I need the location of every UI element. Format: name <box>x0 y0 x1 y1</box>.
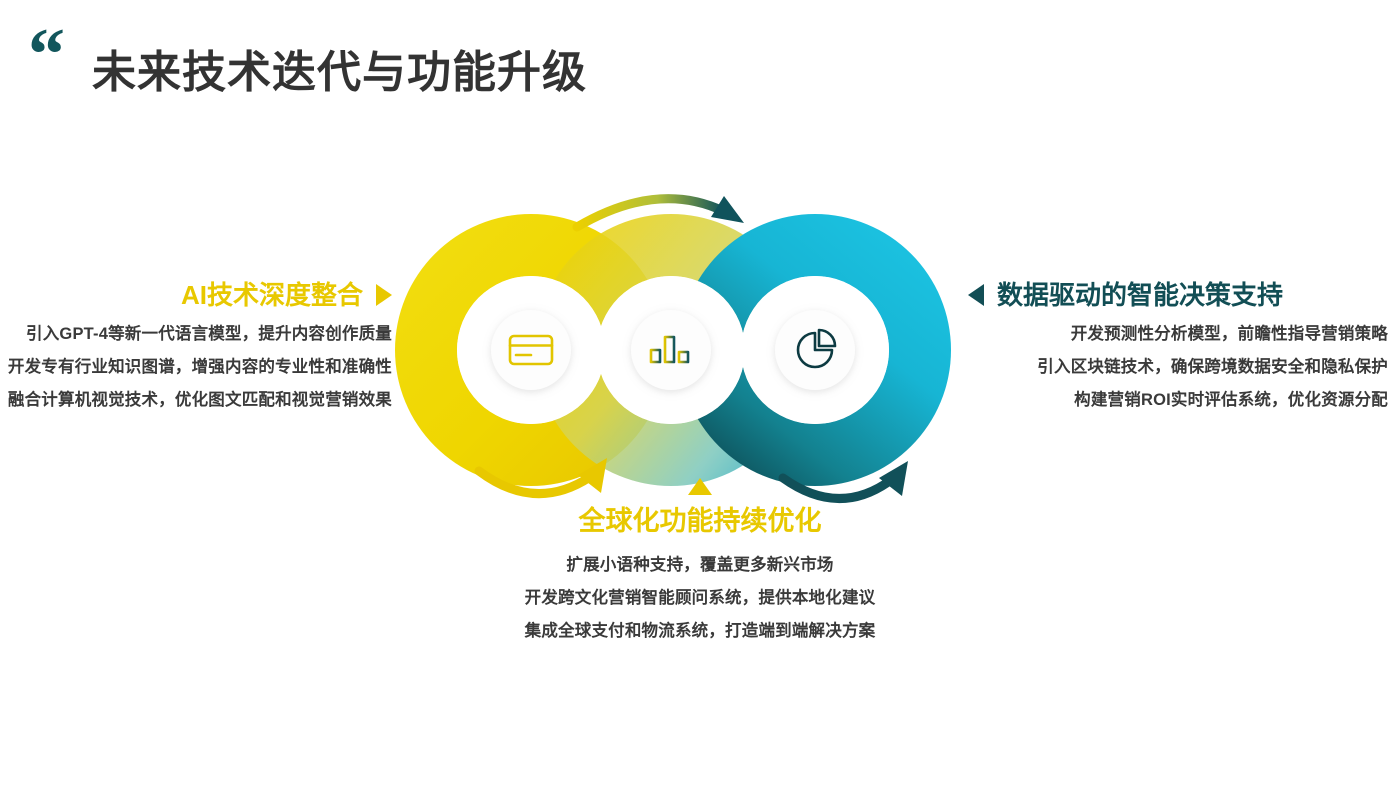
section-bottom: 全球化功能持续优化 扩展小语种支持，覆盖更多新兴市场 开发跨文化营销智能顾问系统… <box>400 478 1000 648</box>
section-right-line-3: 构建营销ROI实时评估系统，优化资源分配 <box>968 384 1388 417</box>
section-left-line-2: 开发专有行业知识图谱，增强内容的专业性和准确性 <box>0 351 392 384</box>
node-2-badge[interactable] <box>631 310 711 390</box>
section-right-heading-row: 数据驱动的智能决策支持 <box>968 282 1388 308</box>
section-bottom-heading: 全球化功能持续优化 <box>400 508 1000 535</box>
section-bottom-line-2: 开发跨文化营销智能顾问系统，提供本地化建议 <box>400 582 1000 615</box>
page-title: 未来技术迭代与功能升级 <box>92 36 587 100</box>
section-bottom-line-1: 扩展小语种支持，覆盖更多新兴市场 <box>400 549 1000 582</box>
infographic-diagram <box>395 175 1005 525</box>
section-left: AI技术深度整合 引入GPT-4等新一代语言模型，提升内容创作质量 开发专有行业… <box>0 282 400 417</box>
page-header: “ 未来技术迭代与功能升级 <box>0 0 1400 140</box>
triangle-left-icon <box>968 284 984 306</box>
section-right-line-2: 引入区块链技术，确保跨境数据安全和隐私保护 <box>968 351 1388 384</box>
section-left-line-1: 引入GPT-4等新一代语言模型，提升内容创作质量 <box>0 318 392 351</box>
quote-mark-icon: “ <box>28 28 62 82</box>
section-left-heading-row: AI技术深度整合 <box>0 282 400 308</box>
section-right-body: 开发预测性分析模型，前瞻性指导营销策略 引入区块链技术，确保跨境数据安全和隐私保… <box>968 318 1388 417</box>
section-left-line-3: 融合计算机视觉技术，优化图文匹配和视觉营销效果 <box>0 384 392 417</box>
triangle-right-icon <box>376 284 392 306</box>
triangle-up-icon <box>688 478 712 495</box>
section-right-heading: 数据驱动的智能决策支持 <box>997 282 1283 308</box>
node-1-badge[interactable] <box>491 310 571 390</box>
section-left-heading: AI技术深度整合 <box>181 282 363 308</box>
section-right: 数据驱动的智能决策支持 开发预测性分析模型，前瞻性指导营销策略 引入区块链技术，… <box>968 282 1388 417</box>
section-bottom-body: 扩展小语种支持，覆盖更多新兴市场 开发跨文化营销智能顾问系统，提供本地化建议 集… <box>400 549 1000 648</box>
section-right-line-1: 开发预测性分析模型，前瞻性指导营销策略 <box>968 318 1388 351</box>
section-bottom-line-3: 集成全球支付和物流系统，打造端到端解决方案 <box>400 615 1000 648</box>
section-left-body: 引入GPT-4等新一代语言模型，提升内容创作质量 开发专有行业知识图谱，增强内容… <box>0 318 400 417</box>
